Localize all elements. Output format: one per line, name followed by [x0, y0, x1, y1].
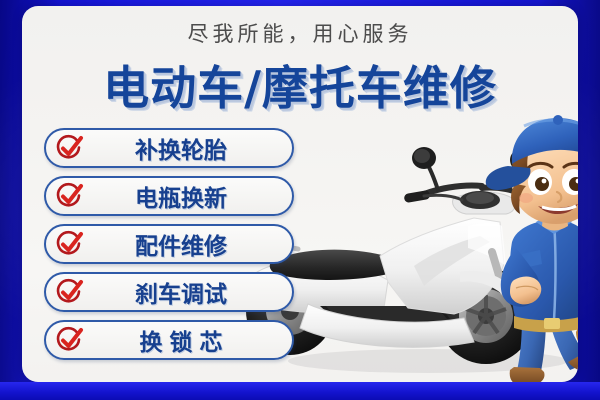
- service-label: 换锁芯: [84, 323, 292, 357]
- poster-canvas: 尽我所能，用心服务 电动车/摩托车维修: [0, 0, 600, 400]
- artwork-scooter-and-mechanic: [268, 156, 578, 382]
- check-circle-icon: [54, 229, 84, 259]
- service-item-0[interactable]: 补换轮胎: [44, 128, 294, 168]
- tagline-text: 尽我所能，用心服务: [22, 18, 578, 48]
- check-circle-icon: [54, 325, 84, 355]
- service-item-2[interactable]: 配件维修: [44, 224, 294, 264]
- poster-panel: 尽我所能，用心服务 电动车/摩托车维修: [22, 6, 578, 382]
- check-circle-icon: [54, 133, 84, 163]
- page-title: 电动车/摩托车维修: [22, 62, 578, 114]
- service-item-1[interactable]: 电瓶换新: [44, 176, 294, 216]
- check-circle-icon: [54, 277, 84, 307]
- service-label: 配件维修: [84, 227, 292, 261]
- service-label: 刹车调试: [84, 275, 292, 309]
- service-list: 补换轮胎 电瓶换新 配件维修: [44, 128, 294, 368]
- check-circle-icon: [54, 181, 84, 211]
- service-item-4[interactable]: 换锁芯: [44, 320, 294, 360]
- bottom-blue-band: [0, 382, 600, 400]
- service-item-3[interactable]: 刹车调试: [44, 272, 294, 312]
- service-label: 补换轮胎: [84, 131, 292, 165]
- service-label: 电瓶换新: [84, 179, 292, 213]
